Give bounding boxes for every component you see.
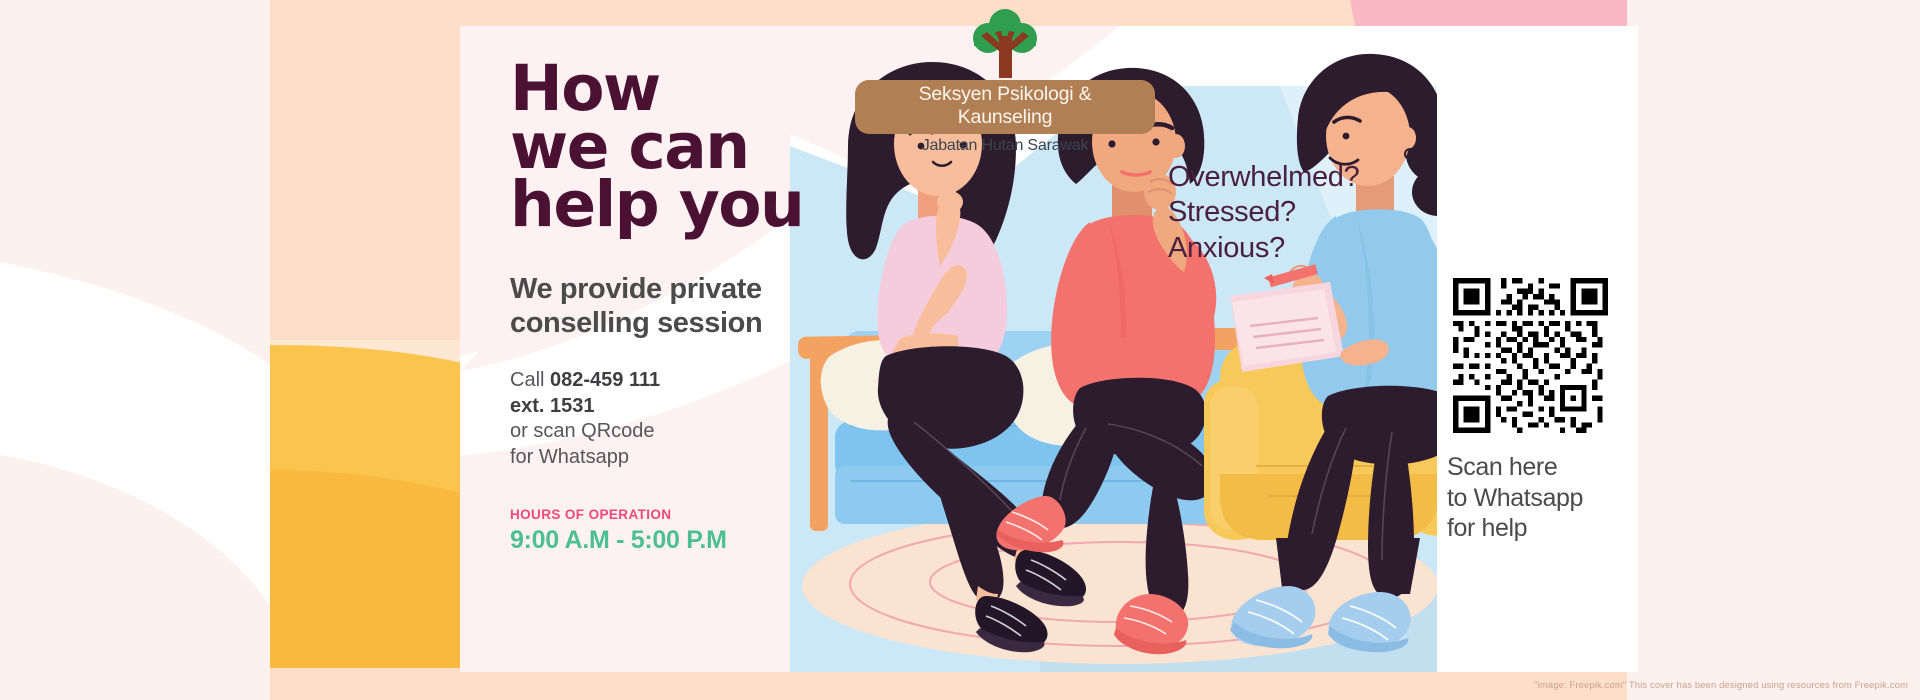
subheading-line-1: We provide private bbox=[510, 272, 850, 306]
organisation-logo: Seksyen Psikologi & Kaunseling Jabatan H… bbox=[855, 8, 1155, 155]
scan-instruction-line-2: for Whatsapp bbox=[510, 445, 850, 471]
phone-extension: ext. 1531 bbox=[510, 394, 850, 420]
page-title: How we can help you bbox=[510, 60, 850, 234]
question-line-3: Anxious? bbox=[1168, 231, 1359, 266]
logo-subtitle: Jabatan Hutan Sarawak bbox=[855, 137, 1155, 155]
headline-line-3: help you bbox=[510, 176, 850, 234]
qr-code-icon[interactable] bbox=[1453, 278, 1608, 433]
call-label: Call bbox=[510, 369, 550, 391]
subheading-line-2: conselling session bbox=[510, 306, 850, 340]
poster-canvas: How we can help you We provide private c… bbox=[0, 0, 1920, 700]
subheading: We provide private conselling session bbox=[510, 272, 850, 340]
scan-instruction-line-1: or scan QRcode bbox=[510, 419, 850, 445]
phone-row: Call 082-459 111 bbox=[510, 368, 850, 394]
tree-icon bbox=[969, 8, 1041, 78]
qr-code-card[interactable] bbox=[1443, 268, 1618, 443]
image-credit: "image: Freepik.com" This cover has been… bbox=[1534, 680, 1908, 691]
headline-block: How we can help you We provide private c… bbox=[510, 60, 850, 555]
logo-badge-text: Seksyen Psikologi & Kaunseling bbox=[855, 80, 1155, 134]
hours-label: HOURS OF OPERATION bbox=[510, 507, 850, 522]
qr-caption: Scan here to Whatsapp for help bbox=[1447, 452, 1627, 544]
phone-number[interactable]: 082-459 111 bbox=[550, 369, 660, 391]
question-line-1: Overwhelmed? bbox=[1168, 160, 1359, 195]
qr-caption-line-2: to Whatsapp bbox=[1447, 483, 1627, 514]
questions-block: Overwhelmed? Stressed? Anxious? bbox=[1168, 160, 1359, 266]
question-line-2: Stressed? bbox=[1168, 195, 1359, 230]
hours-value: 9:00 A.M - 5:00 P.M bbox=[510, 526, 850, 555]
contact-block: Call 082-459 111 ext. 1531 or scan QRcod… bbox=[510, 368, 850, 470]
qr-caption-line-1: Scan here bbox=[1447, 452, 1627, 483]
qr-caption-line-3: for help bbox=[1447, 513, 1627, 544]
